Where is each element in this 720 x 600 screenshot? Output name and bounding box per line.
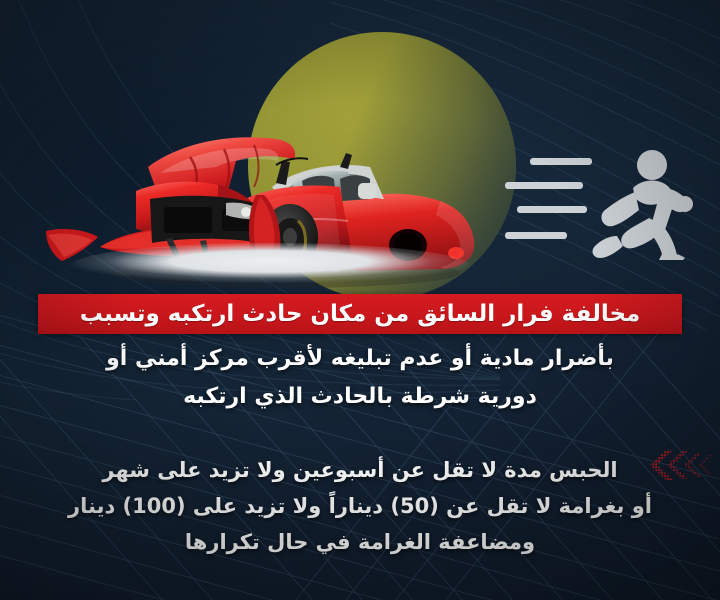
speed-line-2 xyxy=(505,182,583,189)
penalty-paragraph: الحبس مدة لا تقل عن أسبوعين ولا تزيد على… xyxy=(0,452,720,560)
speed-line-1 xyxy=(530,158,592,165)
penalty-line-3: ومضاعفة الغرامة في حال تكرارها xyxy=(0,524,720,560)
runner-group xyxy=(505,150,695,260)
headline-text: مخالفة فرار السائق من مكان حادث ارتكبه و… xyxy=(80,303,641,326)
car-ground-plane xyxy=(70,243,470,289)
main-paragraph: بأضرار مادية أو عدم تبليغه لأقرب مركز أم… xyxy=(0,340,720,416)
penalty-line-2: أو بغرامة لا تقل عن (50) ديناراً ولا تزي… xyxy=(0,488,720,524)
poster-root: مخالفة فرار السائق من مكان حادث ارتكبه و… xyxy=(0,0,720,600)
main-paragraph-line-2: دورية شرطة بالحادث الذي ارتكبه xyxy=(0,378,720,416)
wrecked-car-graphic xyxy=(40,95,500,300)
headline-banner: مخالفة فرار السائق من مكان حادث ارتكبه و… xyxy=(38,294,682,334)
speed-line-3 xyxy=(517,206,587,213)
running-man-icon xyxy=(589,148,697,260)
speed-line-4 xyxy=(505,232,567,239)
penalty-line-1: الحبس مدة لا تقل عن أسبوعين ولا تزيد على… xyxy=(0,452,720,488)
main-paragraph-line-1: بأضرار مادية أو عدم تبليغه لأقرب مركز أم… xyxy=(0,340,720,378)
